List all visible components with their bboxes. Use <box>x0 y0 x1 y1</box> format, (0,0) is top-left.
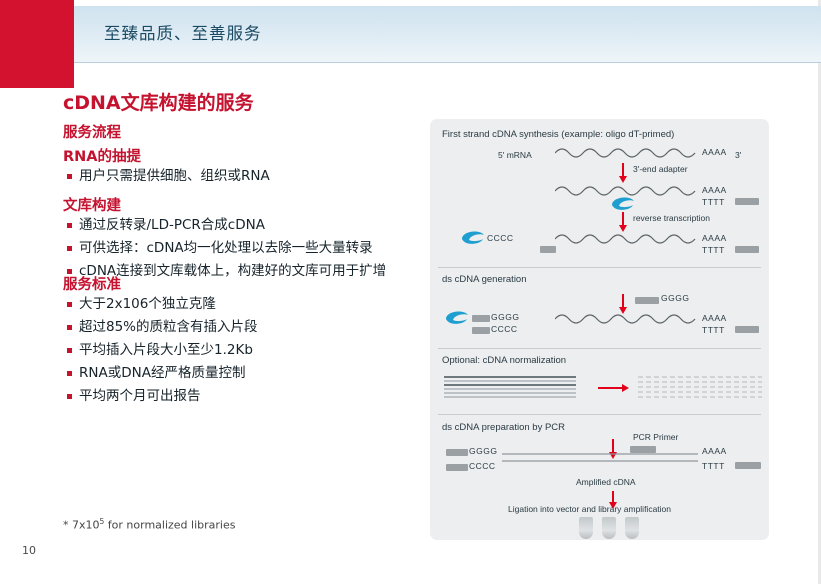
label-pcr-primer: PCR Primer <box>633 432 678 442</box>
seq-cccc-2: CCCC <box>491 324 518 334</box>
mrna-strand-wave-3 <box>555 231 705 245</box>
figure-divider-1 <box>438 267 761 268</box>
normalization-before-block <box>444 375 576 401</box>
step-arrow-4 <box>612 439 614 453</box>
bullet-list-standards: 大于2x106个独立克隆 超过85%的质粒含有插入片段 平均插入片段大小至少1.… <box>63 295 258 410</box>
seq-cccc-3: CCCC <box>469 461 496 471</box>
list-item: 通过反转录/LD-PCR合成cDNA <box>63 216 386 234</box>
polymerase-icon-3 <box>444 309 470 325</box>
seq-tttt-1: TTTT <box>702 197 725 207</box>
adapter-block-8 <box>446 449 468 456</box>
bullet-list-rna: 用户只需提供细胞、组织或RNA <box>63 167 270 190</box>
step-arrow-5 <box>612 491 614 503</box>
label-ligation: Ligation into vector and library amplifi… <box>508 504 671 514</box>
normalization-after-block <box>638 375 762 401</box>
mrna-strand-wave <box>555 145 705 159</box>
list-item: 用户只需提供细胞、组织或RNA <box>63 167 270 185</box>
label-3prime: 3' <box>735 150 741 160</box>
adapter-block-4 <box>635 297 659 304</box>
adapter-block-5 <box>735 326 759 333</box>
figure-divider-2 <box>438 348 761 349</box>
list-item: 可供选择：cDNA均一化处理以去除一些大量转录 <box>63 239 386 257</box>
seq-gggg-2: GGGG <box>491 312 519 322</box>
slide: 至臻品质、至善服务 cDNA文库构建的服务 服务流程 RNA的抽提 用户只需提供… <box>0 0 821 584</box>
pipeline-figure: First strand cDNA synthesis (example: ol… <box>430 119 769 540</box>
header-title: 至臻品质、至善服务 <box>104 20 262 44</box>
seq-cccc-1: CCCC <box>487 233 514 243</box>
seq-aaaa-5: AAAA <box>702 446 727 456</box>
section-heading-rna: RNA的抽提 <box>63 145 141 166</box>
cdna-line <box>502 452 698 464</box>
page-title: cDNA文库构建的服务 <box>63 88 254 115</box>
footnote-suffix: for normalized libraries <box>104 519 235 532</box>
seq-tttt-2: TTTT <box>702 245 725 255</box>
figure-panel-title-2: ds cDNA generation <box>442 274 527 285</box>
footnote-prefix: * 7x10 <box>63 519 100 532</box>
polymerase-icon <box>610 195 636 211</box>
seq-gggg-3: GGGG <box>469 446 497 456</box>
label-5prime-mrna: 5' mRNA <box>498 150 532 160</box>
adapter-block-10 <box>735 462 761 469</box>
seq-tttt-3: TTTT <box>702 325 725 335</box>
adapter-block-2 <box>735 246 759 253</box>
label-3end-adapter: 3'-end adapter <box>633 164 688 174</box>
figure-panel-title-1: First strand cDNA synthesis (example: ol… <box>442 129 674 140</box>
label-amplified-cdna: Amplified cDNA <box>576 477 636 487</box>
adapter-block-6 <box>472 315 490 322</box>
list-item: 平均插入片段大小至少1.2Kb <box>63 341 258 359</box>
seq-gggg-1: GGGG <box>661 293 689 303</box>
adapter-block-7 <box>472 327 490 334</box>
step-arrow-1 <box>622 163 624 177</box>
adapter-block-3 <box>540 246 556 253</box>
list-item: 平均两个月可出报告 <box>63 387 258 405</box>
tube-icon-2 <box>602 517 616 539</box>
header-divider <box>0 62 821 63</box>
figure-panel-title-3: Optional: cDNA normalization <box>442 355 566 366</box>
step-arrow-2 <box>622 212 624 226</box>
list-item: 超过85%的质粒含有插入片段 <box>63 318 258 336</box>
mrna-strand-wave-4 <box>555 311 705 325</box>
label-reverse-transcription: reverse transcription <box>633 213 710 223</box>
adapter-block-9 <box>446 464 468 471</box>
section-heading-flow: 服务流程 <box>63 121 121 142</box>
figure-panel-title-4: ds cDNA preparation by PCR <box>442 422 565 433</box>
step-arrow-3 <box>622 294 624 308</box>
brand-block <box>0 0 74 88</box>
tube-icon-3 <box>625 517 639 539</box>
adapter-block-1 <box>735 198 759 205</box>
list-item: 大于2x106个独立克隆 <box>63 295 258 313</box>
section-heading-standards: 服务标准 <box>63 273 121 294</box>
footnote: * 7x105 for normalized libraries <box>63 517 235 532</box>
seq-tttt-4: TTTT <box>702 461 725 471</box>
seq-aaaa-3: AAAA <box>702 233 727 243</box>
figure-divider-3 <box>438 414 761 415</box>
section-heading-library: 文库构建 <box>63 194 121 215</box>
normalization-arrow <box>598 387 622 389</box>
polymerase-icon-2 <box>460 229 486 245</box>
seq-aaaa-2: AAAA <box>702 185 727 195</box>
list-item: RNA或DNA经严格质量控制 <box>63 364 258 382</box>
seq-aaaa-4: AAAA <box>702 313 727 323</box>
seq-aaaa-1: AAAA <box>702 147 727 157</box>
page-number: 10 <box>22 544 36 557</box>
tube-icon-1 <box>579 517 593 539</box>
